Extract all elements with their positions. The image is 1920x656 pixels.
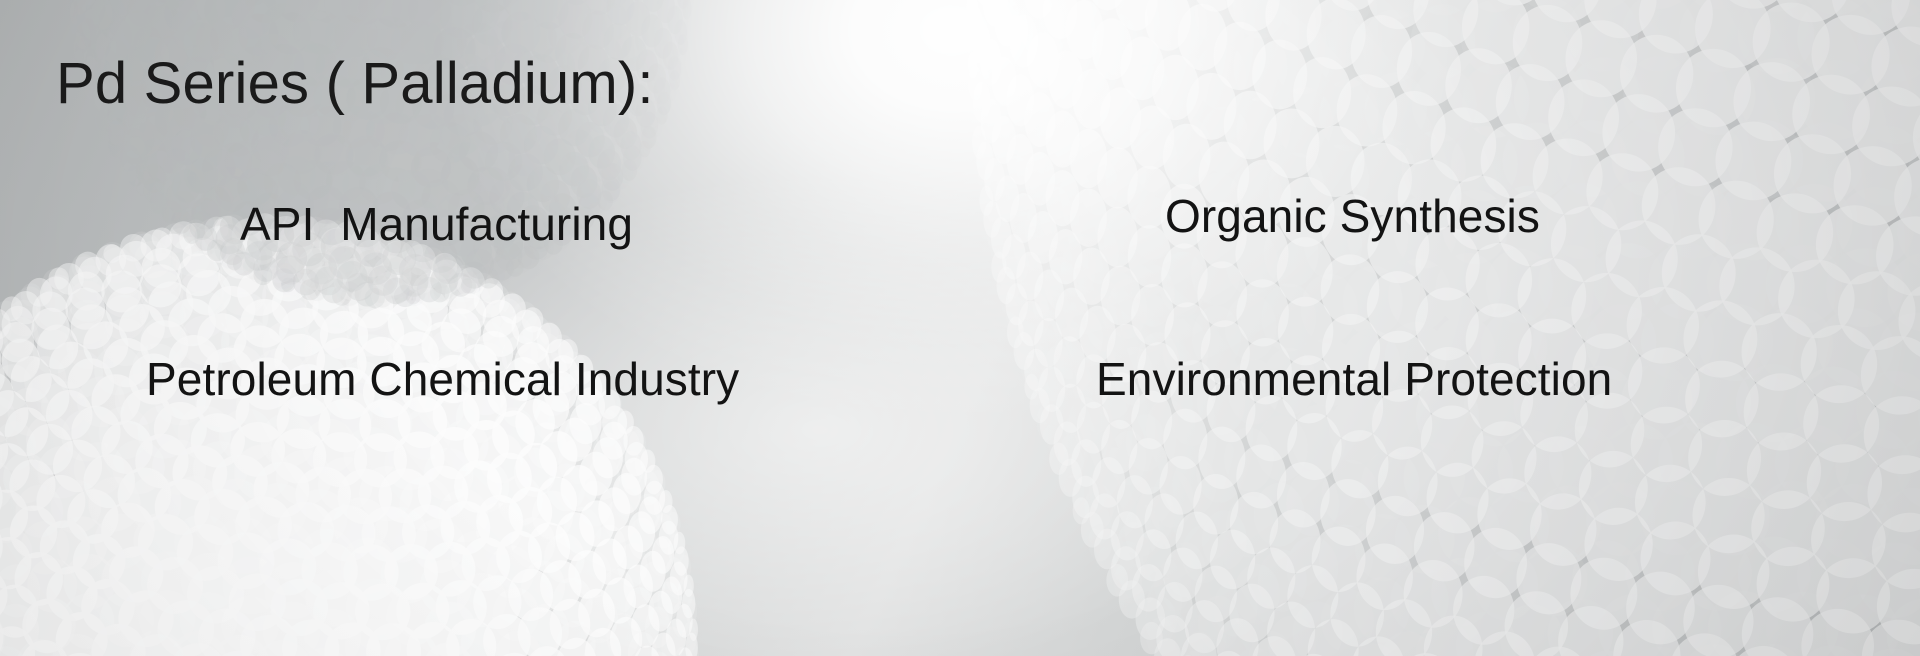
- halftone-sphere-top-left: [60, 0, 700, 310]
- slide-canvas: Pd Series ( Palladium): API Manufacturin…: [0, 0, 1920, 656]
- application-label-petroleum-chemical-industry: Petroleum Chemical Industry: [146, 355, 739, 403]
- halftone-sphere-right: [930, 0, 1920, 656]
- application-label-organic-synthesis: Organic Synthesis: [1165, 192, 1540, 240]
- slide-title: Pd Series ( Palladium):: [56, 54, 654, 115]
- application-label-api-manufacturing: API Manufacturing: [240, 200, 633, 248]
- application-label-environmental-protection: Environmental Protection: [1096, 355, 1612, 403]
